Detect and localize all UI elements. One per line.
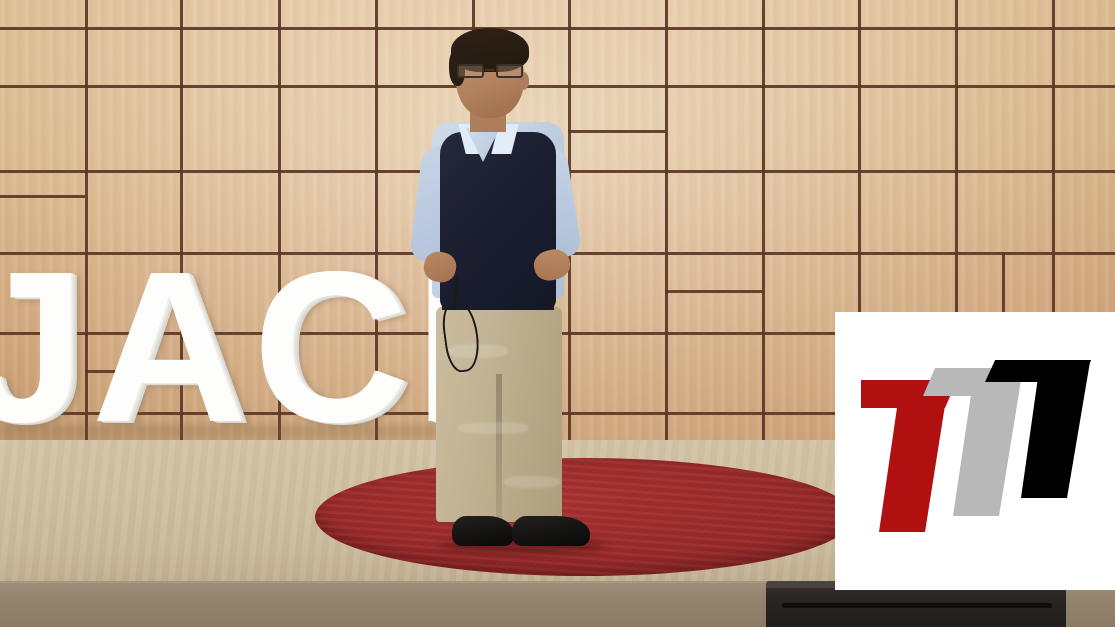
wall-grid-subline bbox=[0, 195, 85, 198]
wall-grid-subline bbox=[665, 290, 763, 293]
wall-grid-line-v bbox=[665, 0, 668, 470]
presenter-shoe-right bbox=[512, 516, 590, 546]
eyeglass-lens-right bbox=[496, 64, 523, 78]
presenter bbox=[400, 24, 620, 544]
wall-grid-line-v bbox=[762, 0, 765, 470]
presenter-shoe-left bbox=[452, 516, 514, 546]
eyeglasses-icon bbox=[457, 64, 523, 79]
video-frame: JACH bbox=[0, 0, 1115, 627]
logo-watermark-card: three slanted italic T letters in a risi… bbox=[835, 312, 1115, 590]
trouser-fold bbox=[504, 476, 560, 488]
triple-t-logo bbox=[853, 360, 1097, 546]
eyeglass-bridge bbox=[485, 69, 495, 71]
logo-alt-text: three slanted italic T letters in a risi… bbox=[835, 312, 836, 313]
eyeglass-lens-left bbox=[457, 64, 484, 78]
trouser-fold bbox=[458, 422, 528, 434]
monitor-vent-slot bbox=[782, 603, 1052, 608]
presenter-leg-seam bbox=[496, 374, 502, 524]
